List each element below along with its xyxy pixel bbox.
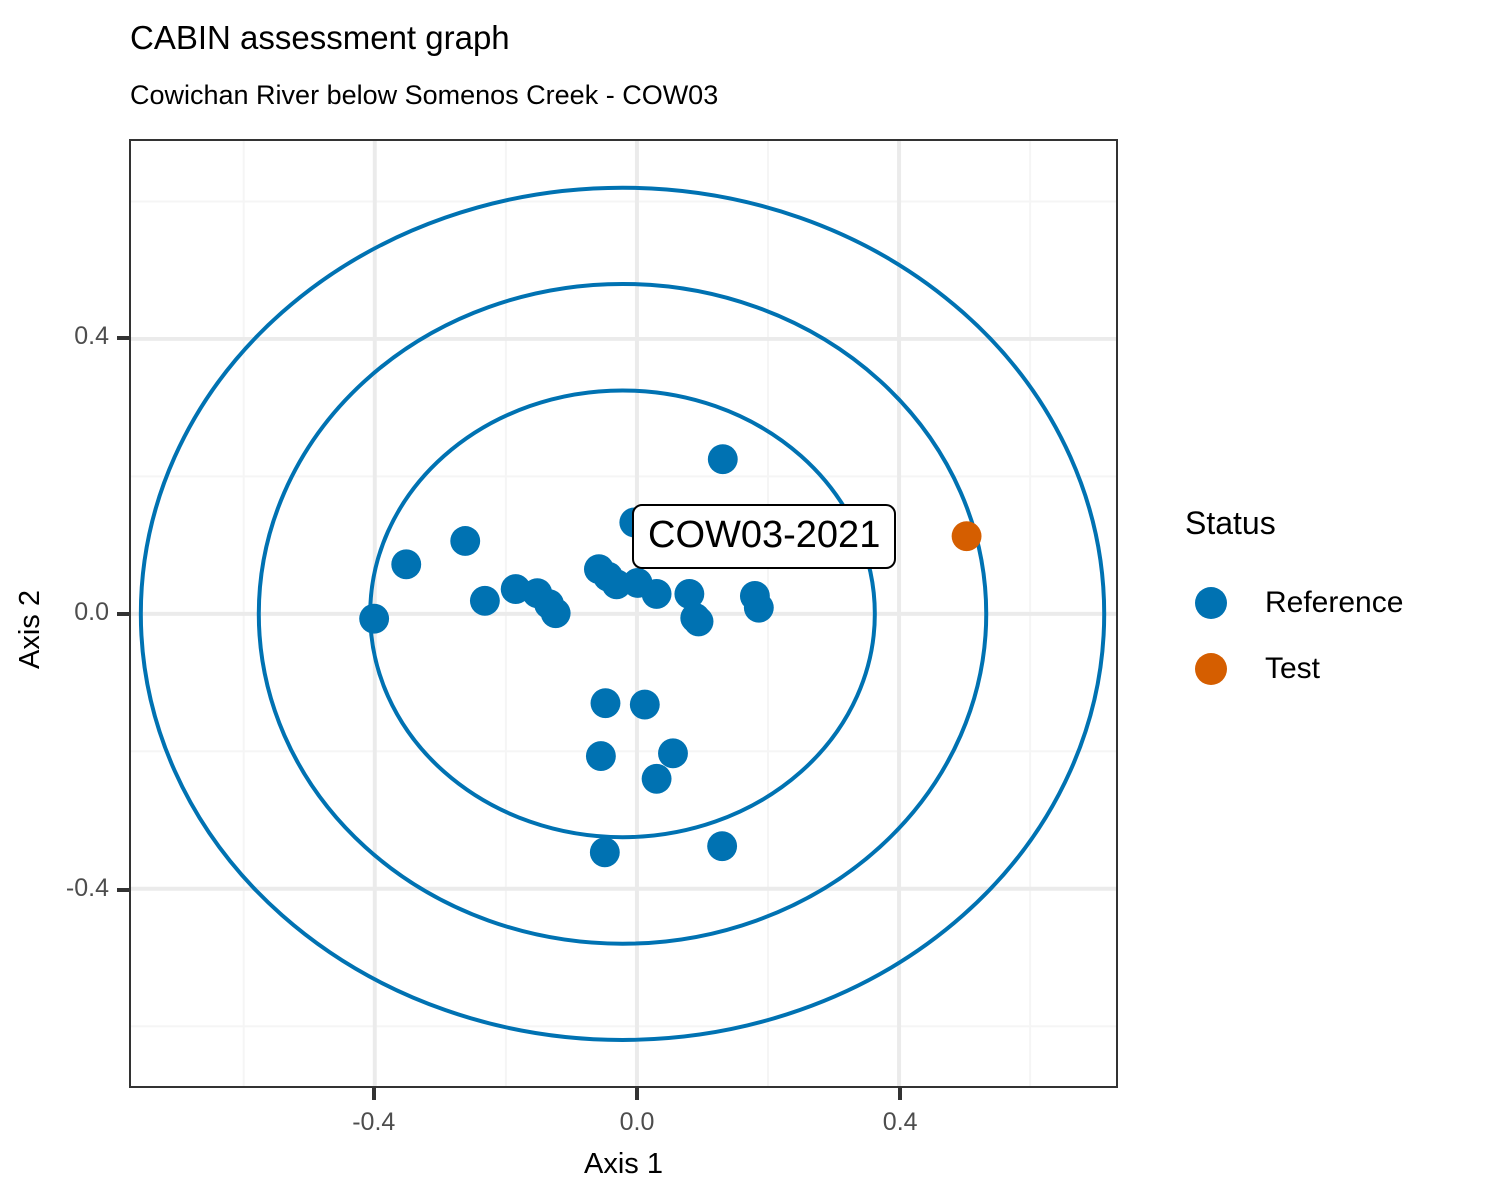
legend: Status Reference Test <box>1183 505 1483 702</box>
data-point-reference[interactable] <box>541 598 571 628</box>
data-point-reference[interactable] <box>590 837 620 867</box>
x-tick-mark <box>372 1088 376 1100</box>
plot-panel <box>129 139 1118 1088</box>
data-point-reference[interactable] <box>630 690 660 720</box>
page-title: CABIN assessment graph <box>130 18 510 58</box>
legend-title: Status <box>1185 505 1483 542</box>
legend-label-test: Test <box>1265 652 1320 686</box>
legend-item-test[interactable]: Test <box>1183 636 1483 702</box>
circle-icon <box>1195 587 1227 619</box>
x-tick-mark <box>898 1088 902 1100</box>
y-tick-mark <box>117 612 129 616</box>
legend-key-test <box>1183 653 1239 685</box>
data-point-reference[interactable] <box>470 586 500 616</box>
legend-label-reference: Reference <box>1265 586 1403 620</box>
y-tick-mark <box>117 888 129 892</box>
data-point-reference[interactable] <box>591 688 621 718</box>
chart-root: CABIN assessment graph Cowichan River be… <box>0 0 1500 1200</box>
plot-canvas <box>131 141 1116 1086</box>
x-tick-label: 0.0 <box>577 1108 697 1137</box>
data-point-reference[interactable] <box>586 741 616 771</box>
data-point-reference[interactable] <box>684 606 714 636</box>
y-tick-mark <box>117 336 129 340</box>
page-subtitle: Cowichan River below Somenos Creek - COW… <box>130 78 718 112</box>
x-tick-label: 0.4 <box>840 1108 960 1137</box>
legend-key-reference <box>1183 587 1239 619</box>
data-point-reference[interactable] <box>359 604 389 634</box>
data-point-reference[interactable] <box>744 593 774 623</box>
data-point-reference[interactable] <box>642 764 672 794</box>
y-axis-title: Axis 2 <box>14 155 47 1104</box>
point-annotation-label: COW03-2021 <box>632 504 896 569</box>
data-point-reference[interactable] <box>658 738 688 768</box>
data-point-reference[interactable] <box>391 549 421 579</box>
data-point-test[interactable] <box>952 521 982 551</box>
x-tick-label: -0.4 <box>314 1108 434 1137</box>
legend-item-reference[interactable]: Reference <box>1183 570 1483 636</box>
x-tick-mark <box>635 1088 639 1100</box>
x-axis-title: Axis 1 <box>129 1148 1118 1181</box>
data-point-reference[interactable] <box>642 579 672 609</box>
circle-icon <box>1195 653 1227 685</box>
data-point-reference[interactable] <box>450 526 480 556</box>
data-point-reference[interactable] <box>707 831 737 861</box>
data-point-reference[interactable] <box>708 444 738 474</box>
